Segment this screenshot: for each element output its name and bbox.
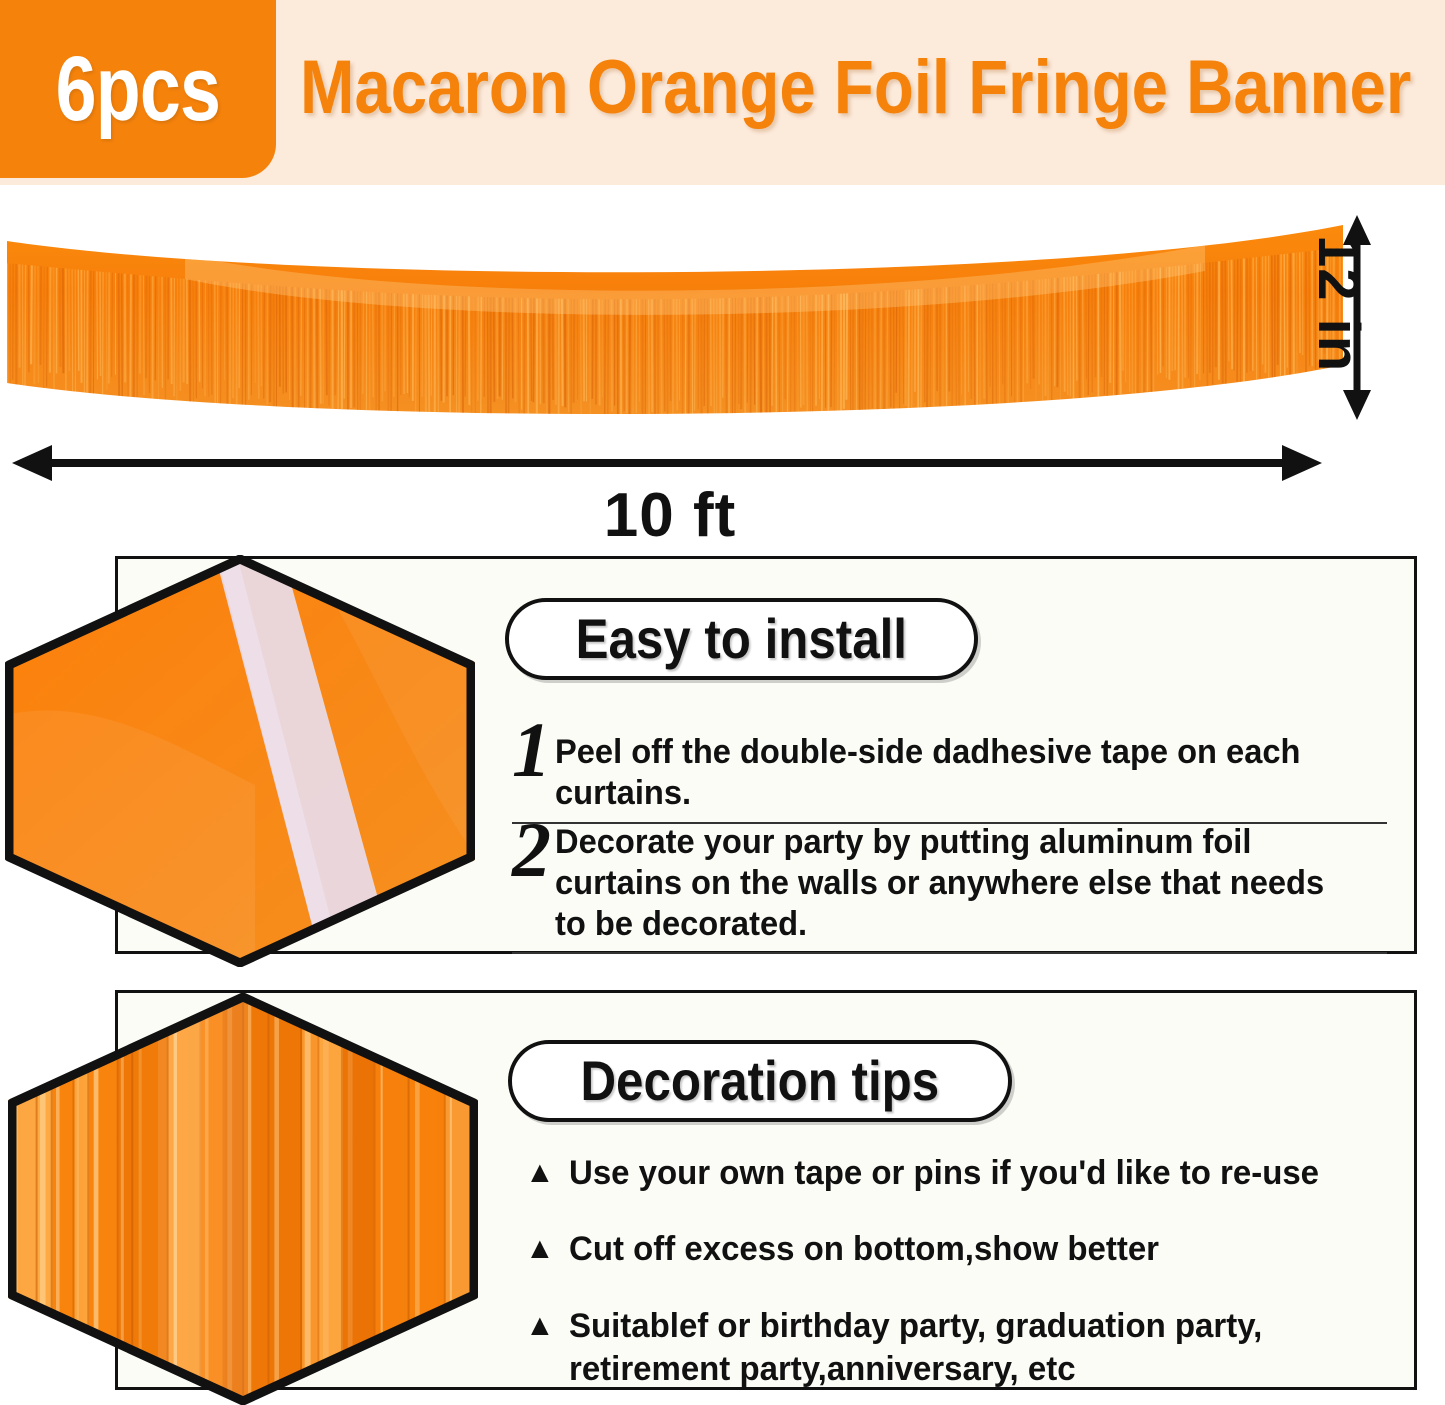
fringe-banner-illustration [5,215,1345,430]
decoration-tip-3: ▲ Suitablef or birthday party, graduatio… [525,1305,1405,1390]
step-text: Decorate your party by putting aluminum … [555,818,1354,944]
decoration-tip-2: ▲ Cut off excess on bottom,show better [525,1228,1405,1271]
triangle-bullet-icon: ▲ [525,1228,555,1264]
tip-text: Suitablef or birthday party, graduation … [569,1305,1380,1390]
tip-text: Use your own tape or pins if you'd like … [569,1152,1319,1195]
step-number: 1 [512,718,551,782]
width-dimension-label: 10 ft [0,480,1340,551]
hero-product-section: 12 in 10 ft [0,185,1445,540]
install-heading-label: Easy to install [576,611,907,667]
tip-text: Cut off excess on bottom,show better [569,1228,1159,1271]
install-step-2: 2 Decorate your party by putting aluminu… [512,818,1387,954]
fringe-banner-photo [5,215,1345,430]
tips-heading-pill: Decoration tips [508,1040,1012,1122]
header-banner: 6pcs Macaron Orange Foil Fringe Banner [0,0,1445,185]
install-heading-pill: Easy to install [505,598,978,680]
piece-count-badge: 6pcs [0,0,276,178]
product-title: Macaron Orange Foil Fringe Banner [300,50,1263,126]
install-step-1: 1 Peel off the double-side dadhesive tap… [512,718,1387,824]
width-dimension-arrow [12,443,1322,483]
decoration-tip-1: ▲ Use your own tape or pins if you'd lik… [525,1152,1405,1195]
triangle-bullet-icon: ▲ [525,1152,555,1188]
step-text: Peel off the double-side dadhesive tape … [555,718,1354,814]
triangle-bullet-icon: ▲ [525,1305,555,1341]
piece-count-label: 6pcs [56,43,221,135]
tips-heading-label: Decoration tips [580,1053,939,1109]
height-dimension-label: 12 in [1305,235,1372,372]
step-number: 2 [512,818,551,882]
